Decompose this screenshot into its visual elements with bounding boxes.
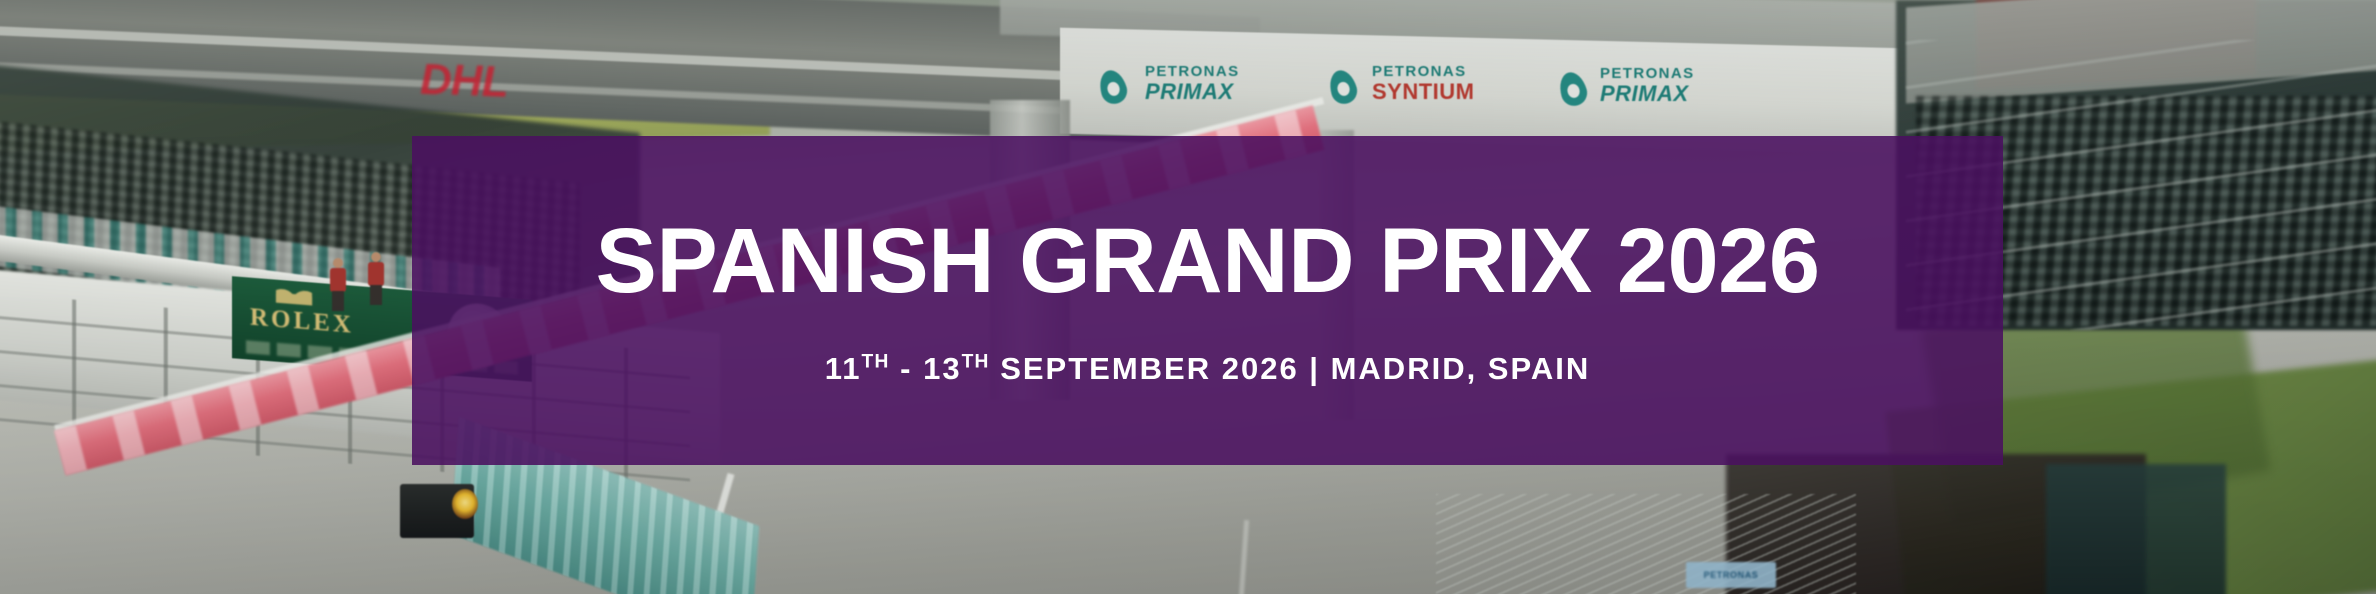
subtitle-month-year: SEPTEMBER 2026 <box>990 351 1310 386</box>
petronas-sign-3: PETRONAS PRIMAX <box>1600 66 1695 105</box>
dhl-banner: DHL <box>420 55 720 117</box>
petronas-label-1: PETRONAS <box>1145 64 1240 80</box>
track-marshal-2 <box>368 252 384 304</box>
petronas-primax-sign: PETRONAS PRIMAX <box>1145 64 1240 103</box>
bottom-right-fence <box>1436 494 1856 594</box>
pit-signal-lamp-icon <box>452 489 478 519</box>
petronas-syntium-text: SYNTIUM <box>1372 80 1475 103</box>
marshal-head <box>371 252 381 262</box>
petronas-label-2: PETRONAS <box>1372 64 1475 80</box>
trackside-petronas-sign: PETRONAS <box>1686 562 1776 588</box>
event-title: SPANISH GRAND PRIX 2026 <box>595 215 1819 307</box>
marshal-legs <box>332 291 344 311</box>
dhl-logo-text: DHL <box>420 55 507 107</box>
event-subtitle: 11TH - 13TH SEPTEMBER 2026 | MADRID, SPA… <box>825 351 1591 387</box>
bottom-right-structure-teal <box>2046 464 2226 594</box>
marshal-head <box>333 258 343 268</box>
marshal-legs <box>370 285 382 305</box>
subtitle-divider: | <box>1309 351 1320 386</box>
marshal-torso <box>330 268 346 292</box>
petronas-syntium-sign: PETRONAS SYNTIUM <box>1372 64 1475 103</box>
subtitle-end-day: 13 <box>923 351 961 386</box>
subtitle-location: MADRID, SPAIN <box>1320 351 1590 386</box>
subtitle-end-ordinal: TH <box>962 351 990 372</box>
event-title-overlay: SPANISH GRAND PRIX 2026 11TH - 13TH SEPT… <box>412 136 2003 465</box>
subtitle-separator: - <box>890 351 924 386</box>
marshal-torso <box>368 262 384 286</box>
subtitle-start-day: 11 <box>825 351 862 386</box>
rolex-crown-icon <box>276 288 312 306</box>
event-hero-banner: DHL PETRONAS PRIMAX PETRONAS SYNTIUM PET… <box>0 0 2376 594</box>
trackside-sign-text: PETRONAS <box>1686 562 1776 588</box>
petronas-primax-text: PRIMAX <box>1145 80 1240 103</box>
petronas-label-3: PETRONAS <box>1600 66 1695 82</box>
track-marshal-1 <box>330 258 346 310</box>
petronas-primax-text-2: PRIMAX <box>1600 82 1695 105</box>
subtitle-start-ordinal: TH <box>862 351 890 372</box>
